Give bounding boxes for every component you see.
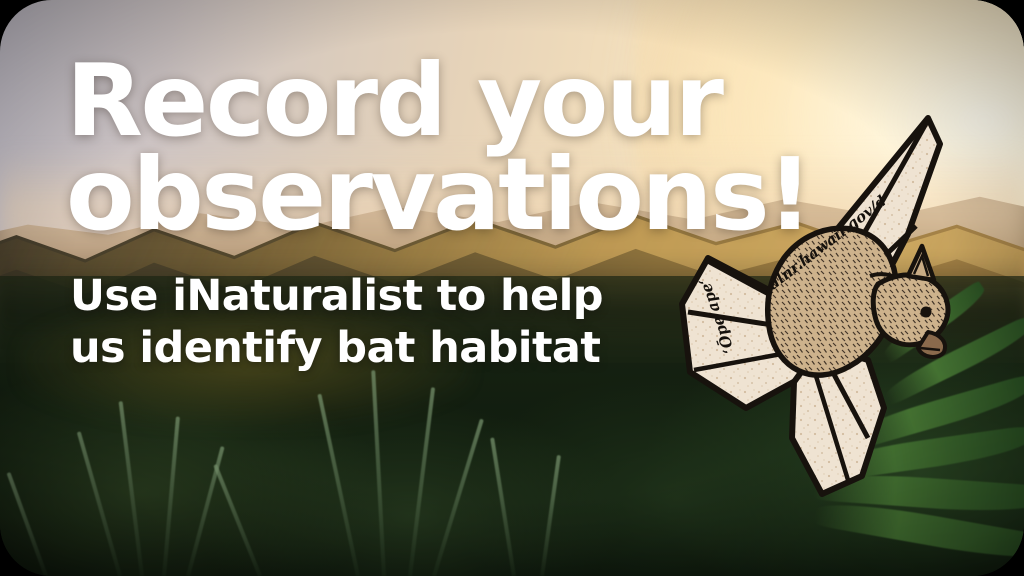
subhead-line-2: us identify bat habitat <box>70 322 766 374</box>
page-title: Record yourobservations! <box>66 54 766 242</box>
bat-ear <box>908 246 934 280</box>
headline-line-2: observations! <box>66 148 766 242</box>
bat-eye <box>921 307 932 318</box>
subhead-line-1: Use iNaturalist to help <box>70 270 766 322</box>
subheading: Use iNaturalist to help us identify bat … <box>70 270 766 375</box>
poster-copy: Record yourobservations! Use iNaturalist… <box>66 54 766 375</box>
poster-canvas: Record yourobservations! Use iNaturalist… <box>0 0 1024 576</box>
